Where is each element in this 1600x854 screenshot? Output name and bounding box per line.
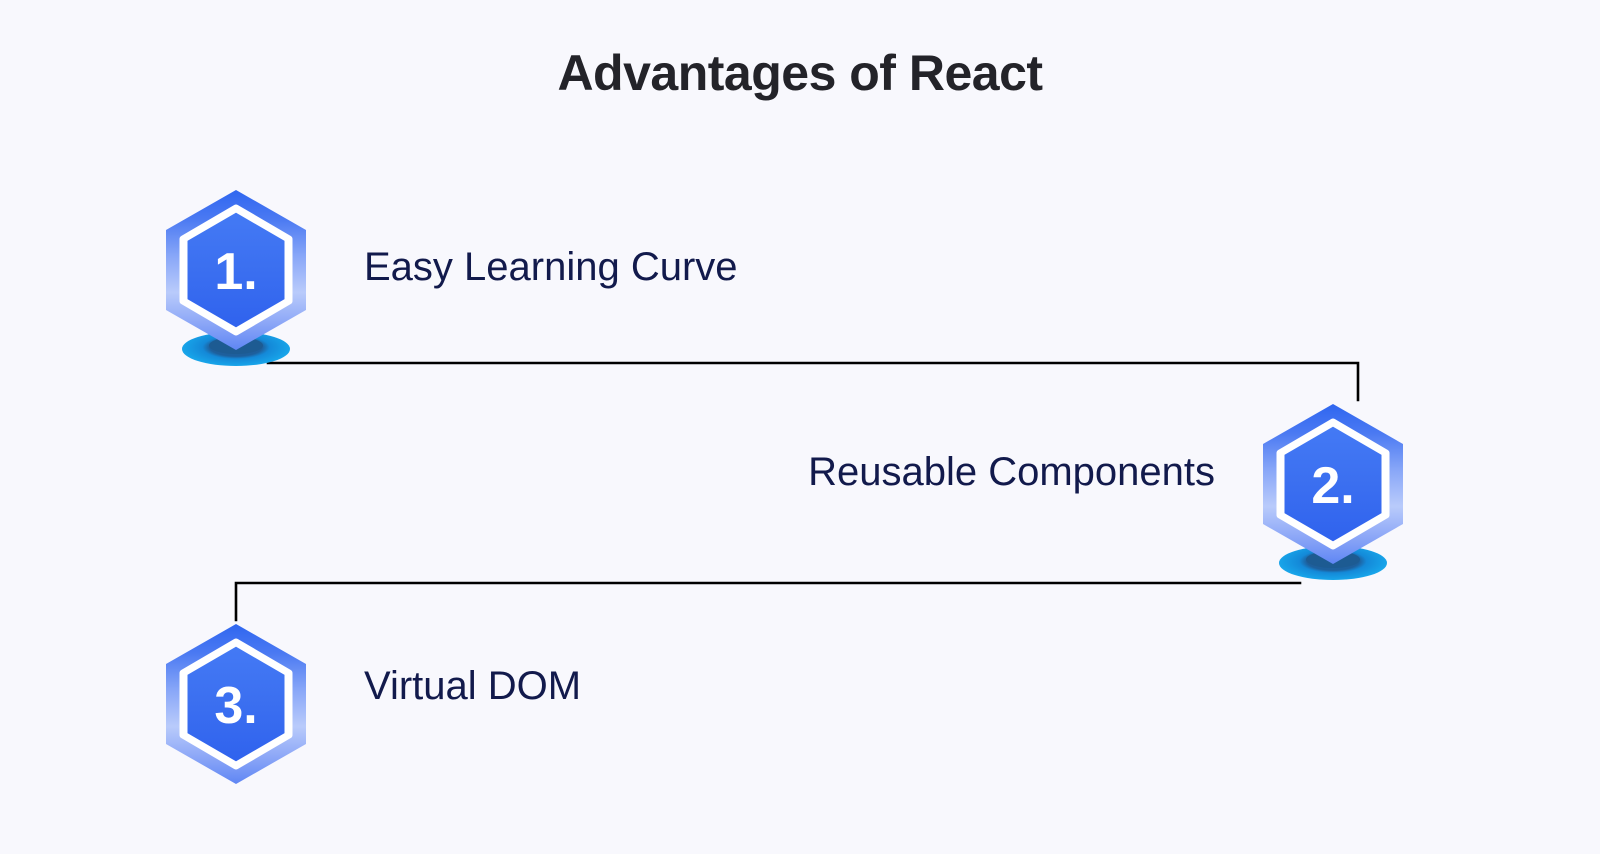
badge-number-1: 1. xyxy=(214,243,257,301)
item-label-2: Reusable Components xyxy=(808,449,1215,495)
hexagon-graphic-3: 3. xyxy=(160,620,312,788)
hexagon-graphic-2: 2. xyxy=(1257,400,1409,568)
infographic-canvas: Advantages of React xyxy=(0,0,1600,854)
badge-hexagon-1[interactable]: 1. xyxy=(160,186,312,354)
item-label-3: Virtual DOM xyxy=(364,663,581,709)
page-title: Advantages of React xyxy=(0,46,1600,101)
hexagon-graphic-1: 1. xyxy=(160,186,312,354)
badge-number-2: 2. xyxy=(1311,457,1354,515)
badge-hexagon-3[interactable]: 3. xyxy=(160,620,312,788)
connector-1-to-2 xyxy=(268,363,1358,400)
item-label-1: Easy Learning Curve xyxy=(364,244,738,290)
connector-2-to-3 xyxy=(236,583,1300,620)
badge-number-3: 3. xyxy=(214,677,257,735)
badge-hexagon-2[interactable]: 2. xyxy=(1257,400,1409,568)
